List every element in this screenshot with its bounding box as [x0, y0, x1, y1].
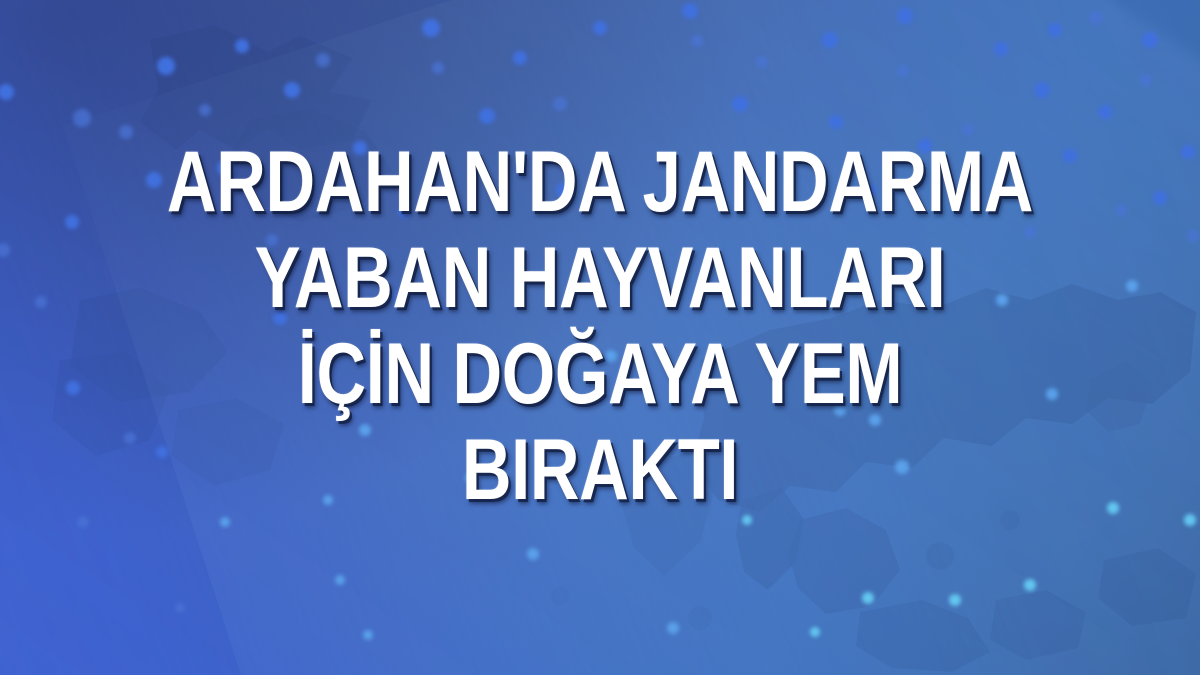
background-dot [829, 115, 843, 129]
background-dot [1098, 105, 1112, 119]
background-dot [822, 32, 838, 48]
background-dot [284, 82, 300, 98]
background-dot [513, 51, 527, 65]
headline-line-3: İÇİN DOĞAYA YEM [152, 326, 1048, 422]
background-dot [1034, 82, 1050, 98]
background-dot [756, 56, 768, 68]
background-dot [0, 84, 14, 100]
background-dot [949, 594, 961, 606]
background-dot [1048, 23, 1062, 37]
background-dot [553, 97, 567, 111]
background-dot [593, 21, 607, 35]
background-dot [810, 627, 820, 637]
background-dot [73, 109, 91, 127]
background-dot [235, 39, 249, 53]
background-dot [422, 19, 440, 37]
background-dot [732, 96, 748, 112]
background-dot [897, 8, 913, 24]
background-dot [157, 57, 175, 75]
headline: ARDAHAN'DA JANDARMA YABAN HAYVANLARI İÇİ… [0, 134, 1200, 518]
background-dot [994, 42, 1008, 56]
background-dot [527, 548, 539, 560]
background-dot [479, 108, 495, 124]
background-dot [691, 35, 703, 47]
background-dot [335, 575, 345, 585]
background-dot [897, 65, 909, 77]
background-dot [316, 53, 330, 67]
news-card: ARDAHAN'DA JANDARMA YABAN HAYVANLARI İÇİ… [0, 0, 1200, 675]
background-dot [363, 630, 373, 640]
background-dot [1140, 74, 1152, 86]
headline-line-1: ARDAHAN'DA JANDARMA [152, 134, 1048, 230]
background-dot [682, 3, 698, 19]
background-dot [220, 517, 230, 527]
background-dot [1142, 32, 1158, 48]
headline-line-4: BIRAKTI [152, 422, 1048, 518]
background-dot [862, 592, 874, 604]
background-dot [175, 603, 185, 613]
background-dot [199, 104, 211, 116]
background-dot [667, 622, 679, 634]
headline-line-2: YABAN HAYVANLARI [152, 230, 1048, 326]
background-dot [1089, 11, 1103, 25]
background-dot [1024, 579, 1036, 591]
background-dot [432, 62, 444, 74]
